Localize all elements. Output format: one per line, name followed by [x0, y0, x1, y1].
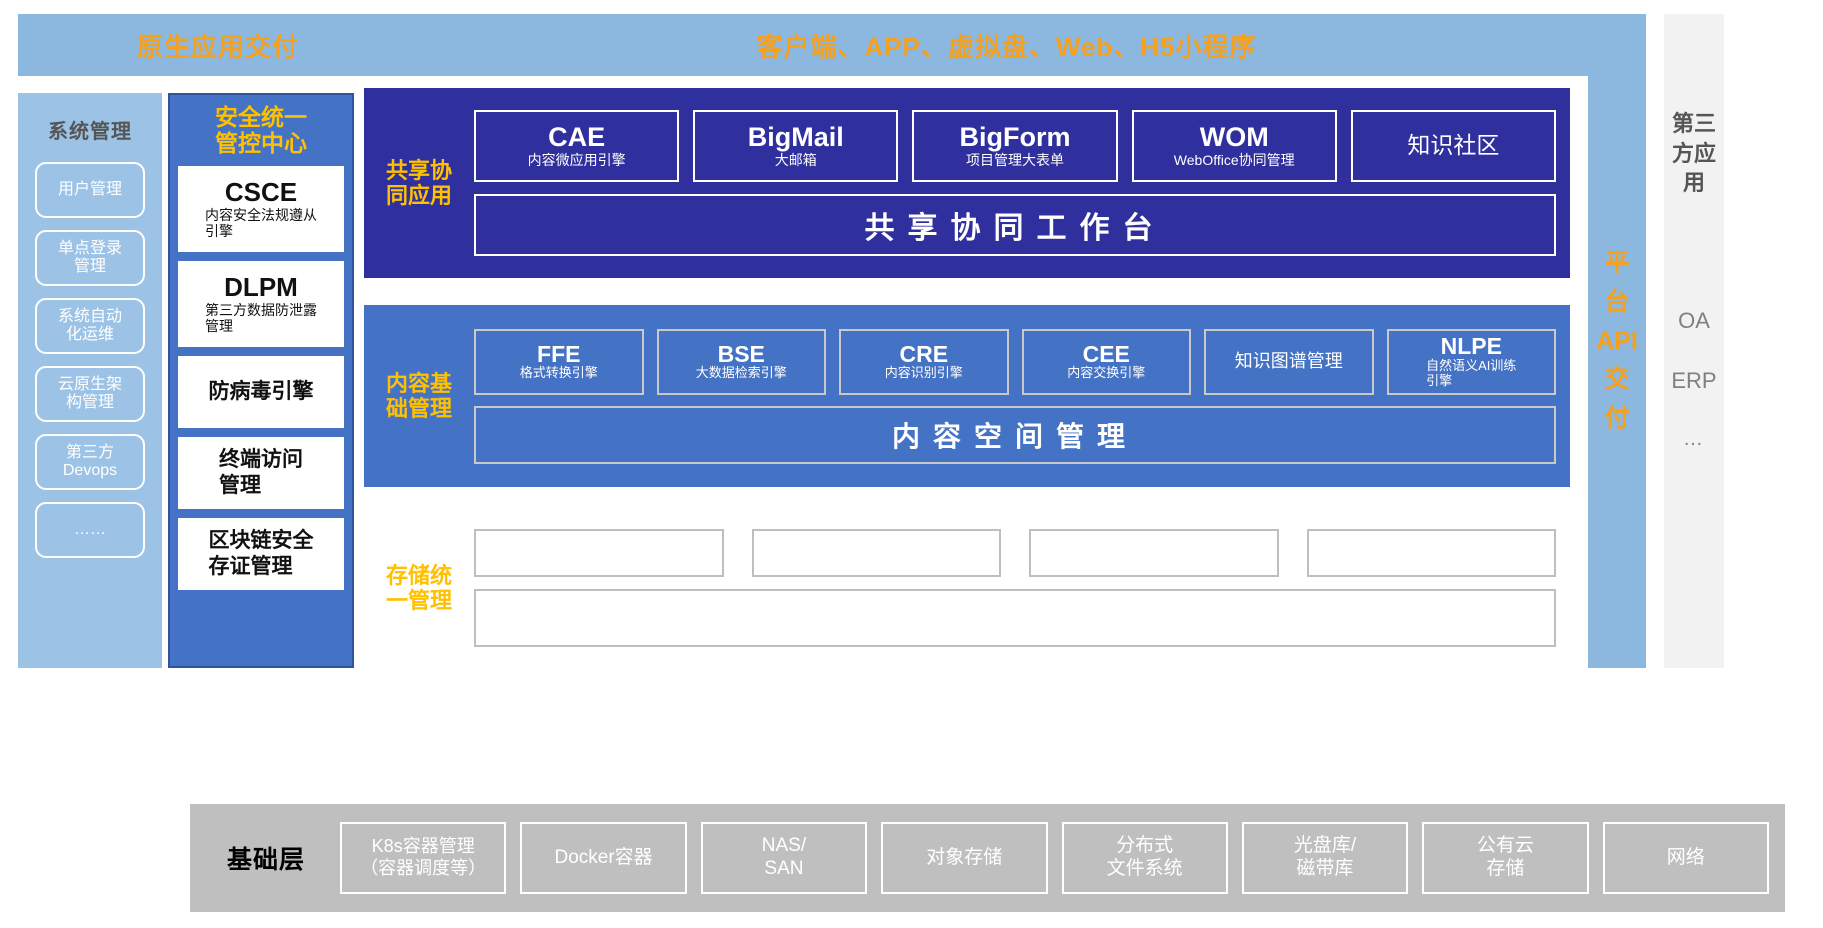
security-card-name: 终端访问管理 — [219, 447, 303, 497]
storage-pool-row: 在线存储池 离线存储池 分级存储管理 热备容灾管理 — [474, 529, 1556, 577]
content-engine-cee[interactable]: CEE 内容交换引擎 — [1022, 329, 1192, 395]
third-party-item-more[interactable]: … — [1683, 428, 1705, 451]
third-party-app-column: 第三方应用 OA ERP … — [1664, 14, 1724, 668]
security-card-csce[interactable]: CSCE 内容安全法规遵从引擎 — [178, 166, 344, 252]
shared-collaboration-label: 共享协同应用 — [364, 158, 474, 209]
content-engine-row: FFE 格式转换引擎 BSE 大数据检索引擎 CRE 内容识别引擎 CEE 内容… — [474, 329, 1556, 395]
content-engine-desc: 大数据检索引擎 — [696, 366, 787, 381]
content-space-management[interactable]: 内容空间管理 — [474, 406, 1556, 464]
storage-management-label: 存储统一管理 — [364, 563, 474, 614]
share-app-name: 知识社区 — [1407, 133, 1499, 158]
shared-app-row: CAE 内容微应用引擎 BigMail 大邮箱 BigForm 项目管理大表单 … — [474, 110, 1556, 182]
sys-item-cloud-native-arch[interactable]: 云原生架构管理 — [35, 366, 145, 422]
security-card-antivirus-engine[interactable]: 防病毒引擎 — [178, 356, 344, 428]
share-app-name: BigMail — [748, 123, 844, 151]
content-engine-name: BSE — [718, 342, 765, 366]
api-char-5: 付 — [1596, 399, 1638, 438]
content-engine-name: CRE — [899, 342, 948, 366]
infra-node-distributed-fs[interactable]: 分布式文件系统 — [1062, 822, 1228, 894]
client-channels-label: 客户端、APP、虚拟盘、Web、H5小程序 — [418, 27, 1595, 64]
share-app-name: WOM — [1200, 123, 1269, 151]
shared-collaboration-section: 共享协同应用 CAE 内容微应用引擎 BigMail 大邮箱 BigForm 项… — [364, 88, 1570, 278]
sys-item-sso-management[interactable]: 单点登录管理 — [35, 230, 145, 286]
api-char-1: 平 — [1596, 244, 1638, 283]
content-engine-nlpe[interactable]: NLPE 自然语义AI训练引擎 — [1387, 329, 1557, 395]
sys-item-label: 系统自动化运维 — [58, 308, 122, 345]
content-engine-knowledge-graph[interactable]: 知识图谱管理 — [1204, 329, 1374, 395]
content-engine-name: FFE — [537, 342, 580, 366]
api-char-4: 交 — [1596, 360, 1638, 399]
content-engine-bse[interactable]: BSE 大数据检索引擎 — [657, 329, 827, 395]
storage-pool-online[interactable]: 在线存储池 — [474, 529, 724, 577]
infrastructure-title: 基础层 — [206, 840, 326, 876]
security-card-desc: 内容安全法规遵从引擎 — [205, 207, 317, 239]
native-app-delivery-bar: 原生应用交付 客户端、APP、虚拟盘、Web、H5小程序 — [18, 14, 1595, 76]
content-base-body: FFE 格式转换引擎 BSE 大数据检索引擎 CRE 内容识别引擎 CEE 内容… — [474, 329, 1570, 464]
infra-node-network[interactable]: 网络 — [1603, 822, 1769, 894]
security-center-title: 安全统一管控中心 — [215, 105, 307, 157]
platform-api-delivery-column: 平 台 API 交 付 — [1588, 14, 1646, 668]
share-app-bigform[interactable]: BigForm 项目管理大表单 — [912, 110, 1117, 182]
storage-management-section: 存储统一管理 在线存储池 离线存储池 分级存储管理 热备容灾管理 文件大数据存储… — [364, 508, 1570, 668]
sys-item-label: 云原生架构管理 — [58, 376, 122, 413]
content-base-management-section: 内容基础管理 FFE 格式转换引擎 BSE 大数据检索引擎 CRE 内容识别引擎… — [364, 305, 1570, 487]
system-management-column: 系统管理 用户管理 单点登录管理 系统自动化运维 云原生架构管理 第三方Devo… — [18, 93, 162, 668]
content-engine-name: CEE — [1083, 342, 1130, 366]
storage-hot-backup-dr[interactable]: 热备容灾管理 — [1307, 529, 1557, 577]
security-card-name: 防病毒引擎 — [209, 379, 314, 404]
content-engine-desc: 格式转换引擎 — [520, 366, 598, 381]
security-card-name: DLPM — [224, 273, 298, 302]
sys-item-user-management[interactable]: 用户管理 — [35, 162, 145, 218]
infra-node-docker[interactable]: Docker容器 — [520, 822, 686, 894]
content-base-label: 内容基础管理 — [364, 371, 474, 422]
share-app-wom[interactable]: WOM WebOffice协同管理 — [1132, 110, 1337, 182]
architecture-diagram: 原生应用交付 客户端、APP、虚拟盘、Web、H5小程序 系统管理 用户管理 单… — [0, 0, 1823, 928]
security-card-dlpm[interactable]: DLPM 第三方数据防泄露管理 — [178, 261, 344, 347]
sys-item-automation-ops[interactable]: 系统自动化运维 — [35, 298, 145, 354]
infra-node-object-storage[interactable]: 对象存储 — [881, 822, 1047, 894]
shared-collaboration-body: CAE 内容微应用引擎 BigMail 大邮箱 BigForm 项目管理大表单 … — [474, 110, 1570, 256]
security-card-name: 区块链安全存证管理 — [209, 528, 314, 578]
platform-api-delivery-label: 平 台 API 交 付 — [1596, 244, 1638, 438]
content-engine-cre[interactable]: CRE 内容识别引擎 — [839, 329, 1009, 395]
security-card-terminal-access[interactable]: 终端访问管理 — [178, 437, 344, 509]
file-bigdata-storage-management[interactable]: 文件大数据存储管理 — [474, 589, 1556, 647]
share-app-name: BigForm — [960, 123, 1071, 151]
infra-node-k8s[interactable]: K8s容器管理（容器调度等） — [340, 822, 506, 894]
security-card-name: CSCE — [225, 178, 297, 207]
storage-pool-offline[interactable]: 离线存储池 — [752, 529, 1002, 577]
content-engine-name: 知识图谱管理 — [1235, 352, 1343, 372]
third-party-item-erp[interactable]: ERP — [1671, 368, 1716, 394]
sys-item-third-party-devops[interactable]: 第三方Devops — [35, 434, 145, 490]
share-app-desc: WebOffice协同管理 — [1174, 152, 1295, 169]
sys-item-label: 单点登录管理 — [58, 240, 122, 277]
share-app-name: CAE — [548, 123, 605, 151]
infra-node-public-cloud-storage[interactable]: 公有云存储 — [1422, 822, 1588, 894]
storage-body: 在线存储池 离线存储池 分级存储管理 热备容灾管理 文件大数据存储管理 — [474, 529, 1570, 647]
security-card-desc: 第三方数据防泄露管理 — [205, 302, 317, 334]
security-control-center-column: 安全统一管控中心 CSCE 内容安全法规遵从引擎 DLPM 第三方数据防泄露管理… — [168, 93, 354, 668]
content-engine-name: NLPE — [1441, 334, 1502, 358]
infra-node-nas-san[interactable]: NAS/SAN — [701, 822, 867, 894]
infra-node-optical-tape-library[interactable]: 光盘库/磁带库 — [1242, 822, 1408, 894]
shared-collaboration-workbench[interactable]: 共享协同工作台 — [474, 194, 1556, 256]
infrastructure-layer: 基础层 K8s容器管理（容器调度等） Docker容器 NAS/SAN 对象存储… — [190, 804, 1785, 912]
api-char-2: 台 — [1596, 283, 1638, 322]
share-app-knowledge-community[interactable]: 知识社区 — [1351, 110, 1556, 182]
content-engine-desc: 内容识别引擎 — [885, 366, 963, 381]
api-char-3: API — [1596, 322, 1638, 361]
security-card-blockchain-evidence[interactable]: 区块链安全存证管理 — [178, 518, 344, 590]
share-app-desc: 内容微应用引擎 — [528, 152, 626, 169]
share-app-cae[interactable]: CAE 内容微应用引擎 — [474, 110, 679, 182]
content-engine-ffe[interactable]: FFE 格式转换引擎 — [474, 329, 644, 395]
sys-item-label: …… — [74, 521, 106, 539]
share-app-desc: 大邮箱 — [775, 152, 817, 169]
third-party-item-oa[interactable]: OA — [1678, 308, 1710, 334]
storage-tiered-management[interactable]: 分级存储管理 — [1029, 529, 1279, 577]
third-party-title: 第三方应用 — [1664, 109, 1724, 198]
sys-item-label: 第三方Devops — [63, 444, 117, 481]
system-management-title: 系统管理 — [48, 115, 132, 144]
share-app-desc: 项目管理大表单 — [966, 152, 1064, 169]
native-delivery-label: 原生应用交付 — [18, 27, 418, 64]
content-engine-desc: 自然语义AI训练引擎 — [1426, 359, 1516, 389]
share-app-bigmail[interactable]: BigMail 大邮箱 — [693, 110, 898, 182]
sys-item-more[interactable]: …… — [35, 502, 145, 558]
sys-item-label: 用户管理 — [58, 181, 122, 199]
content-engine-desc: 内容交换引擎 — [1067, 366, 1145, 381]
